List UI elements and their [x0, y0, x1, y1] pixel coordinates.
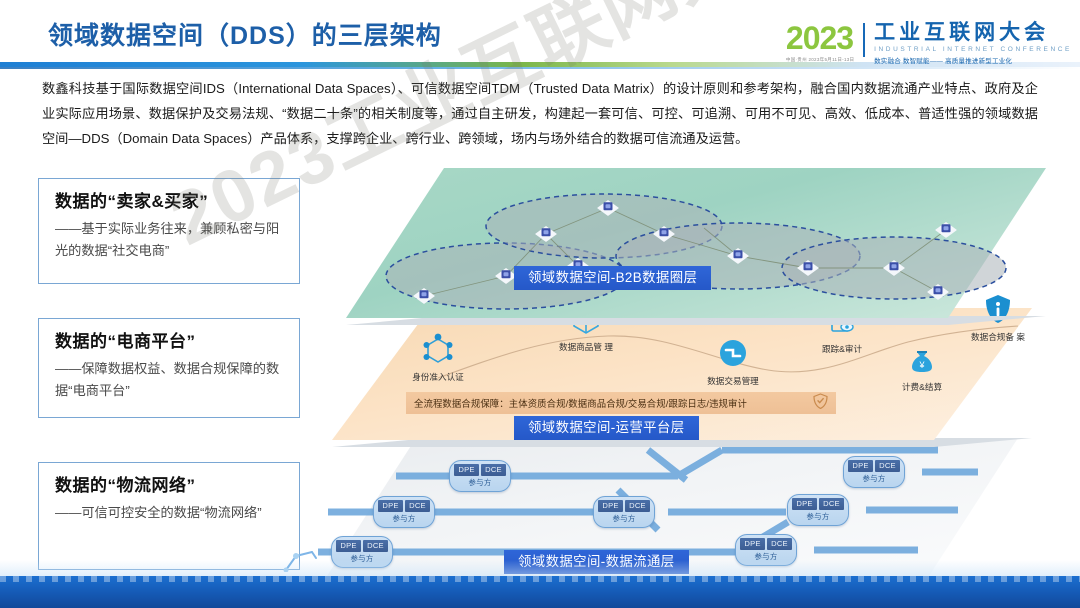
- caption-card-logistics-network: 数据的“物流网络” ——可信可控安全的数据“物流网络”: [38, 462, 300, 570]
- platform-icon-label: 计费&结算: [879, 382, 965, 393]
- b2b-node-icon: [653, 226, 675, 242]
- logo-year: 2023: [786, 22, 863, 54]
- layer-label-b2b: 领域数据空间-B2B数据圈层: [514, 266, 711, 290]
- logo-name-en: INDUSTRIAL INTERNET CONFERENCE: [874, 46, 1072, 53]
- logo-year-subtitle: 中国·贵州 2023年5月11日-13日: [786, 57, 863, 63]
- caption-card-sellers-buyers: 数据的“卖家&买家” ——基于实际业务往来，兼顾私密与阳光的数据“社交电商”: [38, 178, 300, 284]
- page-title: 领域数据空间（DDS）的三层架构: [48, 16, 442, 52]
- logo-name-cn: 工业互联网大会: [874, 22, 1072, 43]
- shield-check-icon: [813, 393, 828, 414]
- platform-icon-label: 数据商品管 理: [543, 342, 629, 353]
- platform-icon-label: 跟踪&审计: [799, 344, 885, 355]
- slide-root: 领域数据空间（DDS）的三层架构 2023 中国·贵州 2023年5月11日-1…: [0, 0, 1080, 608]
- b2b-node-icon: [727, 248, 749, 264]
- b2b-node-icon: [597, 200, 619, 216]
- compliance-bar: 全流程数据合规保障：主体资质合规/数据商品合规/交易合规/跟踪日志/违规审计: [406, 392, 836, 414]
- money-bag-icon: ¥: [908, 346, 936, 374]
- b2b-node-icon: [927, 284, 949, 300]
- b2b-node-icon: [413, 288, 435, 304]
- logo-slogan: 数实融合 数智赋能—— 高质量推进新型工业化: [874, 55, 1072, 65]
- bottom-strip: [0, 576, 1080, 608]
- platform-icon-identity[interactable]: 身份准入认证: [395, 332, 481, 383]
- identity-node-icon: [421, 332, 455, 364]
- architecture-diagram: DPEDCE参与方DPEDCE参与方DPEDCE参与方DPEDCE参与方DPED…: [318, 150, 1080, 608]
- platform-icon-trade-mgmt[interactable]: 数据交易管理: [690, 338, 776, 387]
- platform-icon-label: 数据交易管理: [690, 376, 776, 387]
- platform-icon-label: 身份准入认证: [395, 372, 481, 383]
- caption-card-body: ——保障数据权益、数据合规保障的数据“电商平台”: [55, 358, 285, 402]
- platform-icon-billing[interactable]: ¥ 计费&结算: [879, 346, 965, 393]
- compliance-bar-text: 全流程数据合规保障：主体资质合规/数据商品合规/交易合规/跟踪日志/违规审计: [414, 396, 747, 410]
- conference-logo: 2023 中国·贵州 2023年5月11日-13日 工业互联网大会 INDUST…: [786, 22, 1072, 65]
- b2b-node-icon: [883, 260, 905, 276]
- caption-card-heading: 数据的“物流网络”: [55, 475, 285, 498]
- b2b-node-icon: [535, 226, 557, 242]
- robot-arm-icon: [282, 546, 320, 572]
- b2b-node-icon: [935, 222, 957, 238]
- caption-card-body: ——可信可控安全的数据“物流网络”: [55, 502, 285, 524]
- svg-text:¥: ¥: [918, 360, 925, 370]
- platform-icon-label: 数据合规备 案: [955, 332, 1041, 343]
- caption-card-body: ——基于实际业务往来，兼顾私密与阳光的数据“社交电商”: [55, 218, 285, 262]
- layer-label-platform: 领域数据空间-运营平台层: [514, 416, 699, 440]
- caption-card-ecommerce-platform: 数据的“电商平台” ——保障数据权益、数据合规保障的数据“电商平台”: [38, 318, 300, 418]
- title-divider-secondary: [0, 67, 1080, 69]
- caption-card-heading: 数据的“电商平台”: [55, 331, 285, 354]
- b2b-node-icon: [797, 260, 819, 276]
- caption-card-heading: 数据的“卖家&买家”: [55, 191, 285, 214]
- intro-paragraph: 数鑫科技基于国际数据空间IDS（International Data Space…: [42, 76, 1038, 151]
- exchange-circle-icon: [718, 338, 748, 368]
